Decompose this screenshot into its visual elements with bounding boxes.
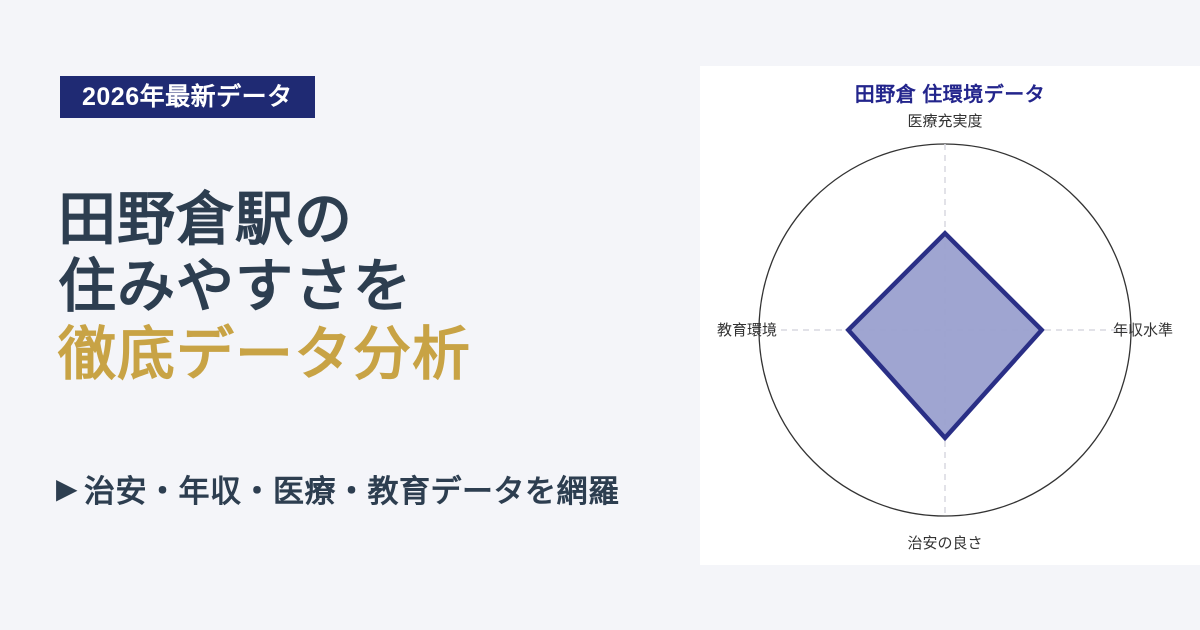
headline-line-3-accent: 徹底データ分析 [58,321,698,388]
radar-chart-card: 田野倉 住環境データ 医療充実度 年収水準 治安の良さ 教育環境 [700,66,1200,565]
headline-block: 田野倉駅の 住みやすさを 徹底データ分析 [58,186,698,388]
subheading-label: 治安・年収・医療・教育データを網羅 [84,466,620,511]
radar-axis-label-right: 年収水準 [1113,322,1173,339]
headline-line-1: 田野倉駅の [58,186,698,253]
date-badge: 2026年最新データ [60,76,315,118]
radar-axis-label-bottom: 治安の良さ [907,535,982,552]
headline-line-2: 住みやすさを [58,253,698,320]
subheading: ▶ 治安・年収・医療・教育データを網羅 [56,466,620,511]
left-text-panel: 2026年最新データ 田野倉駅の 住みやすさを 徹底データ分析 ▶ 治安・年収・… [0,0,700,630]
poster-canvas: 2026年最新データ 田野倉駅の 住みやすさを 徹底データ分析 ▶ 治安・年収・… [0,0,1200,630]
radar-data-polygon [848,233,1041,438]
radar-axis-label-left: 教育環境 [717,321,777,339]
play-triangle-icon: ▶ [56,475,78,503]
radar-axis-label-top: 医療充実度 [907,113,982,130]
radar-chart-svg: 医療充実度 年収水準 治安の良さ 教育環境 [700,66,1200,565]
